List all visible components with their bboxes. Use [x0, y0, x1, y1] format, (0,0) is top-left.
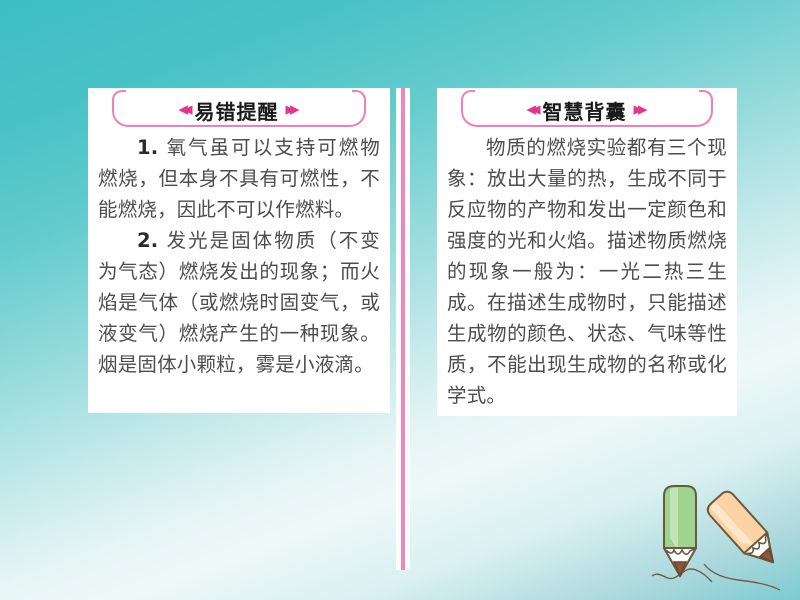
- double-chevron-left-icon: ◂◂: [526, 100, 535, 119]
- panel-left-body: 1. 氧气虽可以支持可燃物燃烧，但本身不具有可燃性，不能燃烧，因此不可以作燃料。…: [88, 128, 390, 380]
- panel-right-body: 物质的燃烧实验都有三个现象：放出大量的热，生成不同于反应物的产物和发出一定颜色和…: [437, 128, 737, 411]
- badge-inner-right: ◂◂ 智慧背囊 ▸▸: [521, 96, 652, 125]
- panel-left: ◂◂ 易错提醒 ▸▸ 1. 氧气虽可以支持可燃物燃烧，但本身不具有可燃性，不能燃…: [88, 88, 390, 413]
- badge-left: ◂◂ 易错提醒 ▸▸: [98, 92, 380, 128]
- double-chevron-right-icon: ▸▸: [634, 100, 643, 119]
- green-pencil: [664, 486, 696, 576]
- slide-canvas: ◂◂ 易错提醒 ▸▸ 1. 氧气虽可以支持可燃物燃烧，但本身不具有可燃性，不能燃…: [0, 0, 800, 600]
- double-chevron-right-icon: ▸▸: [286, 100, 295, 119]
- badge-right: ◂◂ 智慧背囊 ▸▸: [447, 92, 727, 128]
- paragraph-2-number: 2.: [137, 229, 158, 252]
- panel-right: ◂◂ 智慧背囊 ▸▸ 物质的燃烧实验都有三个现象：放出大量的热，生成不同于反应物…: [437, 88, 737, 416]
- double-chevron-left-icon: ◂◂: [178, 100, 187, 119]
- badge-title-left: 易错提醒: [195, 96, 279, 125]
- squiggle-left-icon: [652, 569, 712, 582]
- paragraph-2: 2. 发光是固体物质（不变为气态）燃烧发出的现象；而火焰是气体（或燃烧时固变气，…: [98, 225, 380, 380]
- paragraph-1: 1. 氧气虽可以支持可燃物燃烧，但本身不具有可燃性，不能燃烧，因此不可以作燃料。: [98, 132, 380, 225]
- center-divider: [396, 88, 410, 570]
- paragraph-1: 物质的燃烧实验都有三个现象：放出大量的热，生成不同于反应物的产物和发出一定颜色和…: [447, 132, 727, 411]
- badge-inner-left: ◂◂ 易错提醒 ▸▸: [173, 96, 304, 125]
- squiggle-right-icon: [704, 564, 780, 590]
- badge-title-right: 智慧背囊: [543, 96, 627, 125]
- paragraph-1-text: 物质的燃烧实验都有三个现象：放出大量的热，生成不同于反应物的产物和发出一定颜色和…: [447, 136, 727, 407]
- paragraph-1-number: 1.: [137, 136, 158, 159]
- orange-pencil: [705, 489, 785, 573]
- two-pencils-illustration: [612, 478, 800, 600]
